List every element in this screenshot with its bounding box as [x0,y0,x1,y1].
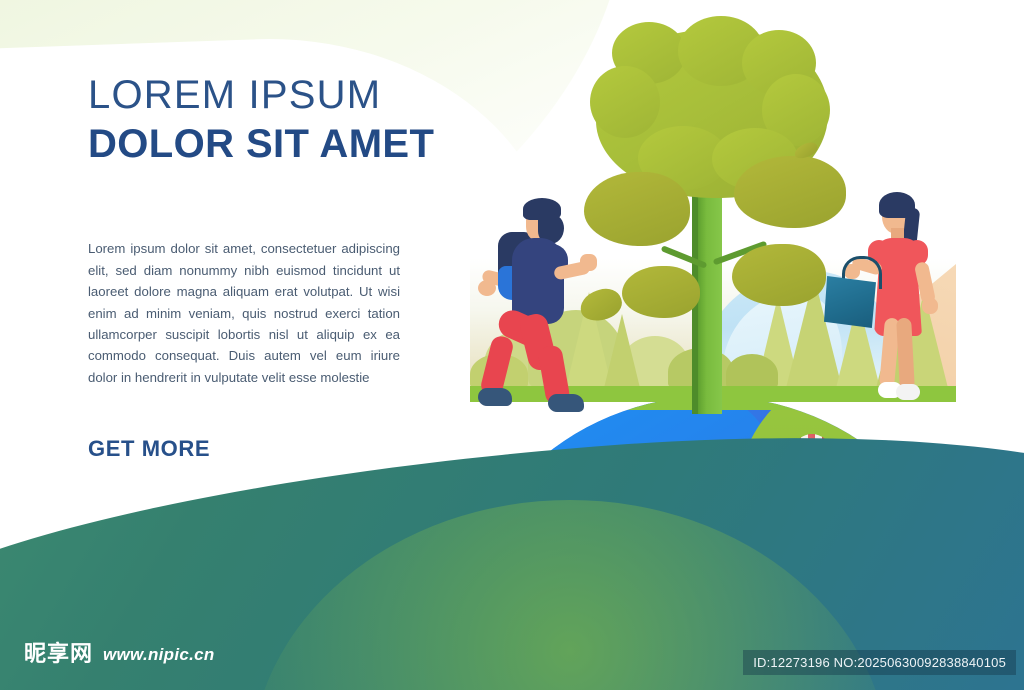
tree-leaf-cluster [732,244,826,306]
man-back-shoe [478,388,512,406]
poster-canvas: LOREM IPSUM DOLOR SIT AMET Lorem ipsum d… [0,0,1024,690]
man-back-hand [478,280,496,296]
page-title-line1: LOREM IPSUM [88,74,418,116]
image-id-badge: ID:12273196 NO:20250630092838840105 [743,650,1016,675]
get-more-link[interactable]: GET MORE [88,436,210,462]
watering-bag [818,258,880,326]
watermark-logo: 昵享网 [24,644,93,666]
watermark: 昵享网 www.nipic.cn [24,644,215,666]
large-tree [586,22,836,414]
bag-body [824,276,876,328]
tree-leaf-cluster [734,156,846,228]
tree-canopy-bump [590,66,660,138]
man-front-hand [580,254,597,271]
walking-man [480,196,600,412]
woman-right-shoe [896,384,920,400]
man-front-shoe [548,394,584,412]
watermark-url: www.nipic.cn [103,645,215,665]
tree-leaf-cluster [622,266,700,318]
hero-copy: LOREM IPSUM DOLOR SIT AMET Lorem ipsum d… [88,74,418,462]
woman-right-hand [922,298,938,314]
page-title-line2: DOLOR SIT AMET [88,122,418,166]
body-paragraph: Lorem ipsum dolor sit amet, consectetuer… [88,238,400,388]
